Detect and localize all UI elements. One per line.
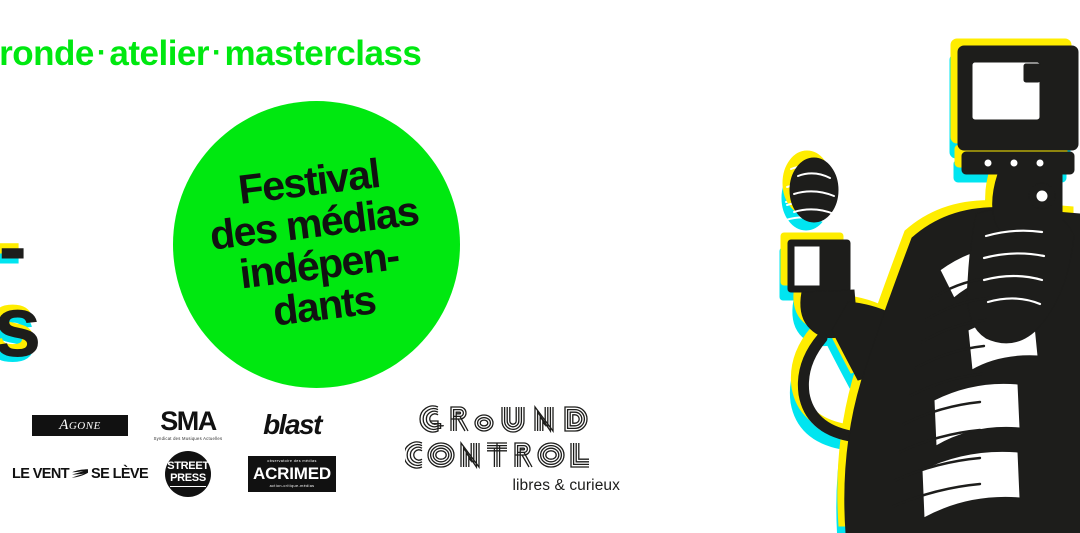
strapline: -ronde·atelier·masterclass: [0, 34, 421, 74]
sma-wordmark: SMA: [154, 408, 223, 435]
partner-logo-le-vent-se-leve[interactable]: LE VENT SE LÈVE: [24, 450, 136, 498]
poster-canvas: -ronde·atelier·masterclass dé en- ces Fe…: [0, 0, 1080, 533]
partner-logo-agone[interactable]: Agone: [24, 402, 136, 448]
ground-control-tagline: libres & curieux: [405, 477, 630, 495]
streetpress-line-2: PRESS: [170, 473, 206, 487]
festival-badge-text: Festival des médias indépen- dants: [157, 85, 477, 405]
partner-logo-streetpress[interactable]: STREET PRESS: [140, 450, 236, 498]
wing-icon: [71, 468, 89, 480]
strapline-item-0: -ronde: [0, 34, 94, 73]
blast-wordmark: blast: [263, 409, 321, 441]
agone-wordmark: Agone: [32, 415, 128, 436]
partner-logo-grid: Agone SMA Syndicat des Musiques Actuelle…: [24, 402, 344, 498]
festival-badge: Festival des médias indépen- dants: [173, 101, 460, 388]
acrimed-bottom-text: action-critique-médias: [250, 484, 334, 488]
headline-line-0: dé: [0, 128, 39, 208]
lvsl-text-before: LE VENT: [12, 466, 69, 482]
page-title: dé en- ces: [0, 128, 39, 368]
badge-line-3: dants: [271, 280, 378, 334]
partner-logo-sma[interactable]: SMA Syndicat des Musiques Actuelles: [140, 402, 236, 448]
ground-control-logo[interactable]: GROUND CONTROL libres & curieux: [405, 398, 630, 495]
partner-logo-acrimed[interactable]: observatoire des médias ACRIMED action-c…: [240, 450, 344, 498]
acrimed-wordmark: ACRIMED: [250, 465, 334, 484]
sma-subtitle: Syndicat des Musiques Actuelles: [154, 437, 223, 441]
partner-logo-blast[interactable]: blast: [240, 402, 344, 448]
headline-line-1: en-: [0, 208, 39, 288]
strapline-separator-0: ·: [94, 36, 110, 69]
headline-line-2: ces: [0, 288, 39, 368]
reporter-with-microphone-illustration: [762, 0, 1080, 533]
strapline-separator-1: ·: [209, 36, 225, 69]
strapline-item-1: atelier: [109, 34, 209, 73]
strapline-item-2: masterclass: [225, 34, 422, 73]
